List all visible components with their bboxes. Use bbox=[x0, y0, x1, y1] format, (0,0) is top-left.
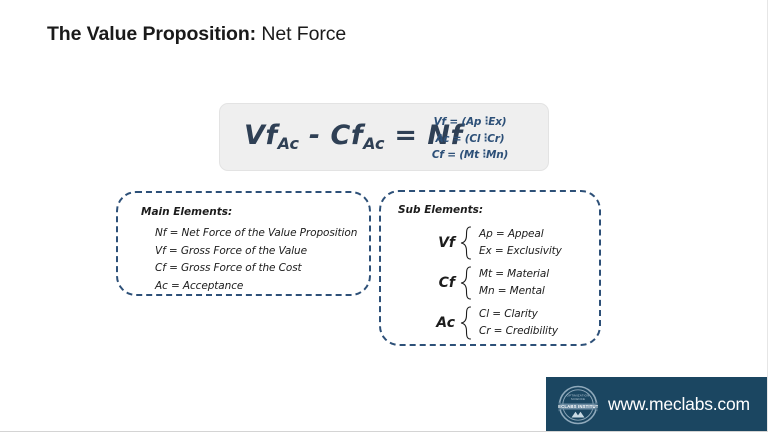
list-item: Ex = Exclusivity bbox=[479, 243, 562, 260]
list-item: Vf = Gross Force of the Value bbox=[155, 243, 357, 261]
sub-group-items: Cl = Clarity Cr = Credibility bbox=[479, 306, 558, 340]
vertical-dots-icon: ⋮ bbox=[481, 113, 488, 130]
sub-elements-box: Sub Elements: Vf Ap = Appeal Ex = Exclus… bbox=[379, 190, 601, 346]
sub-element-group-cf: Cf Mt = Material Mn = Mental bbox=[395, 265, 595, 301]
sub-formula-row: Cf = (Mt⋮Mn) bbox=[410, 147, 530, 164]
sub-formula-left: Ac = (Cl bbox=[436, 133, 481, 145]
footer-url[interactable]: www.meclabs.com bbox=[608, 394, 750, 415]
main-formula-cf-subscript: Ac bbox=[363, 134, 384, 153]
sub-formula-list: Vf = (Ap⋮Ex) Ac = (Cl⋮Cr) Cf = (Mt⋮Mn) bbox=[410, 114, 530, 164]
sub-element-group-vf: Vf Ap = Appeal Ex = Exclusivity bbox=[395, 225, 595, 261]
svg-text:MECLABS INSTITUTE: MECLABS INSTITUTE bbox=[558, 404, 598, 409]
sub-element-group-ac: Ac Cl = Clarity Cr = Credibility bbox=[395, 305, 595, 341]
main-formula-minus: - bbox=[299, 120, 331, 151]
meclabs-seal-logo-icon: OPTIMIZATION SCIENCE MECLABS INSTITUTE bbox=[558, 385, 598, 425]
sub-group-key: Vf bbox=[395, 235, 459, 251]
list-item: Cr = Credibility bbox=[479, 323, 558, 340]
footer-bar: OPTIMIZATION SCIENCE MECLABS INSTITUTE w… bbox=[546, 377, 768, 432]
page-title: The Value Proposition: Net Force bbox=[47, 23, 346, 46]
sub-formula-left: Cf = (Mt bbox=[432, 149, 479, 161]
formula-panel: VfAc - CfAc = Nf Vf = (Ap⋮Ex) Ac = (Cl⋮C… bbox=[219, 103, 549, 171]
main-elements-list: Nf = Net Force of the Value Proposition … bbox=[155, 225, 357, 295]
sub-group-items: Ap = Appeal Ex = Exclusivity bbox=[479, 226, 562, 260]
sub-formula-row: Ac = (Cl⋮Cr) bbox=[410, 131, 530, 148]
svg-text:SCIENCE: SCIENCE bbox=[571, 397, 585, 401]
slide-canvas: The Value Proposition: Net Force VfAc - … bbox=[0, 0, 768, 432]
sub-group-key: Cf bbox=[395, 275, 459, 291]
sub-group-items: Mt = Material Mn = Mental bbox=[479, 266, 549, 300]
main-elements-box: Main Elements: Nf = Net Force of the Val… bbox=[116, 191, 371, 296]
list-item: Mn = Mental bbox=[479, 283, 549, 300]
page-title-light: Net Force bbox=[256, 23, 346, 45]
curly-brace-icon bbox=[459, 226, 472, 260]
main-formula-vf-subscript: Ac bbox=[278, 134, 299, 153]
list-item: Ac = Acceptance bbox=[155, 278, 357, 296]
sub-formula-left: Vf = (Ap bbox=[434, 116, 482, 128]
vertical-dots-icon: ⋮ bbox=[479, 146, 486, 163]
page-title-bold: The Value Proposition: bbox=[47, 23, 256, 45]
list-item: Mt = Material bbox=[479, 266, 549, 283]
curly-brace-icon bbox=[459, 266, 472, 300]
curly-brace-icon bbox=[459, 306, 472, 340]
list-item: Cf = Gross Force of the Cost bbox=[155, 260, 357, 278]
list-item: Nf = Net Force of the Value Proposition bbox=[155, 225, 357, 243]
sub-elements-groups: Vf Ap = Appeal Ex = Exclusivity Cf Mt = … bbox=[395, 225, 595, 345]
main-elements-heading: Main Elements: bbox=[141, 206, 232, 218]
sub-formula-right: Mn) bbox=[486, 149, 508, 161]
sub-elements-heading: Sub Elements: bbox=[398, 204, 483, 216]
sub-group-key: Ac bbox=[395, 315, 459, 331]
main-formula-vf: Vf bbox=[244, 120, 278, 151]
main-formula-cf: Cf bbox=[331, 120, 364, 151]
vertical-dots-icon: ⋮ bbox=[480, 130, 487, 147]
list-item: Cl = Clarity bbox=[479, 306, 558, 323]
sub-formula-row: Vf = (Ap⋮Ex) bbox=[410, 114, 530, 131]
list-item: Ap = Appeal bbox=[479, 226, 562, 243]
